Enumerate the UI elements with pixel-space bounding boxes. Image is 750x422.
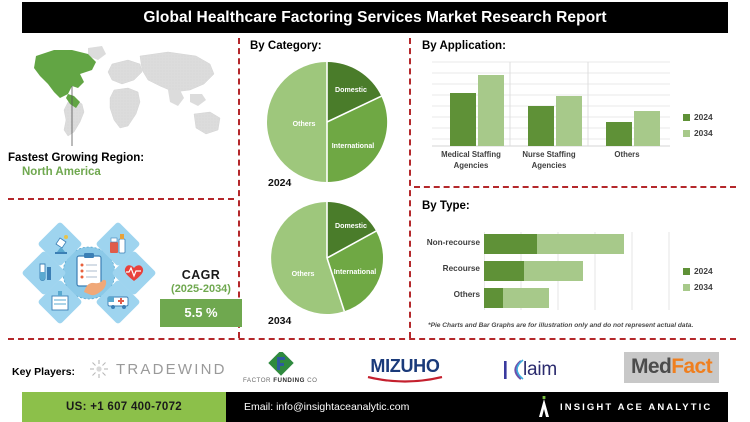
pie-2024-label-international: International (332, 142, 375, 150)
legend-item-2034-type: 2034 (683, 282, 713, 292)
region-value: North America (22, 166, 232, 178)
factor-funding-text-b: FUNDING (273, 377, 305, 384)
legend-item-2024-type: 2024 (683, 266, 713, 276)
factor-funding-text-c: CO (305, 377, 318, 384)
type-label-others: Others (454, 290, 480, 299)
bar-2034-medical (478, 75, 504, 146)
pie-2034-label-domestic: Domestic (335, 222, 367, 230)
bar-2034-nurse (556, 96, 582, 146)
chart-disclaimer: *Pie Charts and Bar Graphs are for illus… (428, 322, 728, 329)
page-title: Global Healthcare Factoring Services Mar… (22, 2, 728, 33)
pie-chart-2024: Domestic International Others (263, 58, 391, 186)
mizuho-swoosh-icon (366, 376, 444, 384)
tradewind-logo: TRADEWIND (88, 358, 227, 380)
bar-2024-others (606, 122, 632, 146)
type-label-recourse: Recourse (443, 264, 480, 273)
bar-2024-nurse (528, 106, 554, 146)
hbar-2024-others (484, 288, 503, 308)
healthcare-icons-cluster (14, 212, 164, 334)
application-category-label-others: Others (588, 150, 666, 161)
hbar-2034-others (503, 288, 549, 308)
type-chart-legend: 2024 2034 (683, 266, 713, 298)
legend-swatch-2024 (683, 114, 690, 121)
legend-item-2024: 2024 (683, 112, 713, 122)
fastest-growing-region: Fastest Growing Region: North America (8, 152, 232, 178)
footer-email[interactable]: Email: info@insightaceanalytic.com (244, 401, 409, 413)
footer-bar: US: +1 607 400-7072 Email: info@insighta… (0, 392, 750, 422)
application-category-label-medical: Medical Staffing Agencies (432, 150, 510, 171)
tradewind-logo-text: TRADEWIND (116, 361, 227, 378)
hbar-2024-recourse (484, 261, 524, 281)
application-category-label-nurse: Nurse Staffing Agencies (510, 150, 588, 171)
type-label-non-recourse: Non-recourse (427, 238, 480, 247)
world-map (10, 40, 232, 150)
legend-swatch-2024-type (683, 268, 690, 275)
application-chart-legend: 2024 2034 (683, 112, 713, 144)
north-america-highlight (34, 50, 96, 98)
section-heading-category: By Category: (250, 40, 322, 52)
bar-2024-medical (450, 93, 476, 146)
pie-2024-label-domestic: Domestic (335, 86, 367, 94)
factor-funding-text-a: FACTOR (243, 377, 273, 384)
divider-vertical-right (409, 38, 411, 338)
pie-2034-label-international: International (334, 268, 377, 276)
medfact-text-fact: Fact (671, 355, 712, 378)
section-heading-type: By Type: (422, 200, 470, 212)
mizuho-logo-text: MIZUHO (366, 356, 444, 377)
cagr-block: CAGR (2025-2034) 5.5 % (160, 268, 242, 327)
region-label: Fastest Growing Region: (8, 152, 232, 164)
mizuho-logo: MIZUHO (366, 356, 444, 384)
legend-label-2024: 2024 (694, 112, 713, 122)
page-title-text: Global Healthcare Factoring Services Mar… (143, 9, 606, 27)
infographic-root: Global Healthcare Factoring Services Mar… (0, 0, 750, 422)
hbar-2034-non-recourse (537, 234, 624, 254)
type-category-labels: Non-recourse Recourse Others (418, 232, 480, 310)
medfact-text-med: Med (631, 355, 671, 378)
pie-2024-label-others: Others (293, 120, 316, 128)
footer-contact-strip: Email: info@insightaceanalytic.com INSIG… (226, 392, 728, 422)
legend-swatch-2034 (683, 130, 690, 137)
tradewind-starburst-icon (88, 358, 110, 380)
cagr-title: CAGR (160, 268, 242, 282)
insight-ace-logo-icon (536, 396, 552, 418)
bar-2034-others (634, 111, 660, 146)
klaim-logo-text: laim (523, 359, 557, 381)
hbar-2034-recourse (524, 261, 583, 281)
hbar-2024-non-recourse (484, 234, 537, 254)
brand-block: INSIGHT ACE ANALYTIC (536, 396, 712, 418)
legend-label-2034-type: 2034 (694, 282, 713, 292)
application-bar-chart (432, 60, 670, 148)
pie-2034-year: 2034 (268, 315, 291, 327)
legend-label-2024-type: 2024 (694, 266, 713, 276)
legend-swatch-2034-type (683, 284, 690, 291)
pie-2034-label-others: Others (292, 270, 315, 278)
factor-funding-mark-icon (263, 352, 297, 376)
section-heading-application: By Application: (422, 40, 506, 52)
footer-phone[interactable]: US: +1 607 400-7072 (22, 392, 226, 422)
legend-label-2034: 2034 (694, 128, 713, 138)
key-players-label: Key Players: (12, 366, 75, 378)
brand-name: INSIGHT ACE ANALYTIC (560, 402, 712, 413)
cagr-period: (2025-2034) (160, 283, 242, 295)
pie-chart-2034: Domestic International Others (263, 198, 391, 318)
klaim-k-icon (503, 357, 525, 383)
klaim-logo: laim (503, 357, 557, 383)
divider-horizontal-left (8, 198, 234, 200)
type-bar-chart (484, 232, 670, 310)
pie-2024-year: 2024 (268, 177, 291, 189)
cagr-value: 5.5 % (160, 299, 242, 327)
divider-horizontal-bottom (8, 338, 736, 340)
medfact-logo: MedFact (624, 352, 719, 383)
factor-funding-logo: FACTOR FUNDING CO (243, 352, 317, 384)
legend-item-2034: 2034 (683, 128, 713, 138)
divider-horizontal-right (414, 186, 736, 188)
